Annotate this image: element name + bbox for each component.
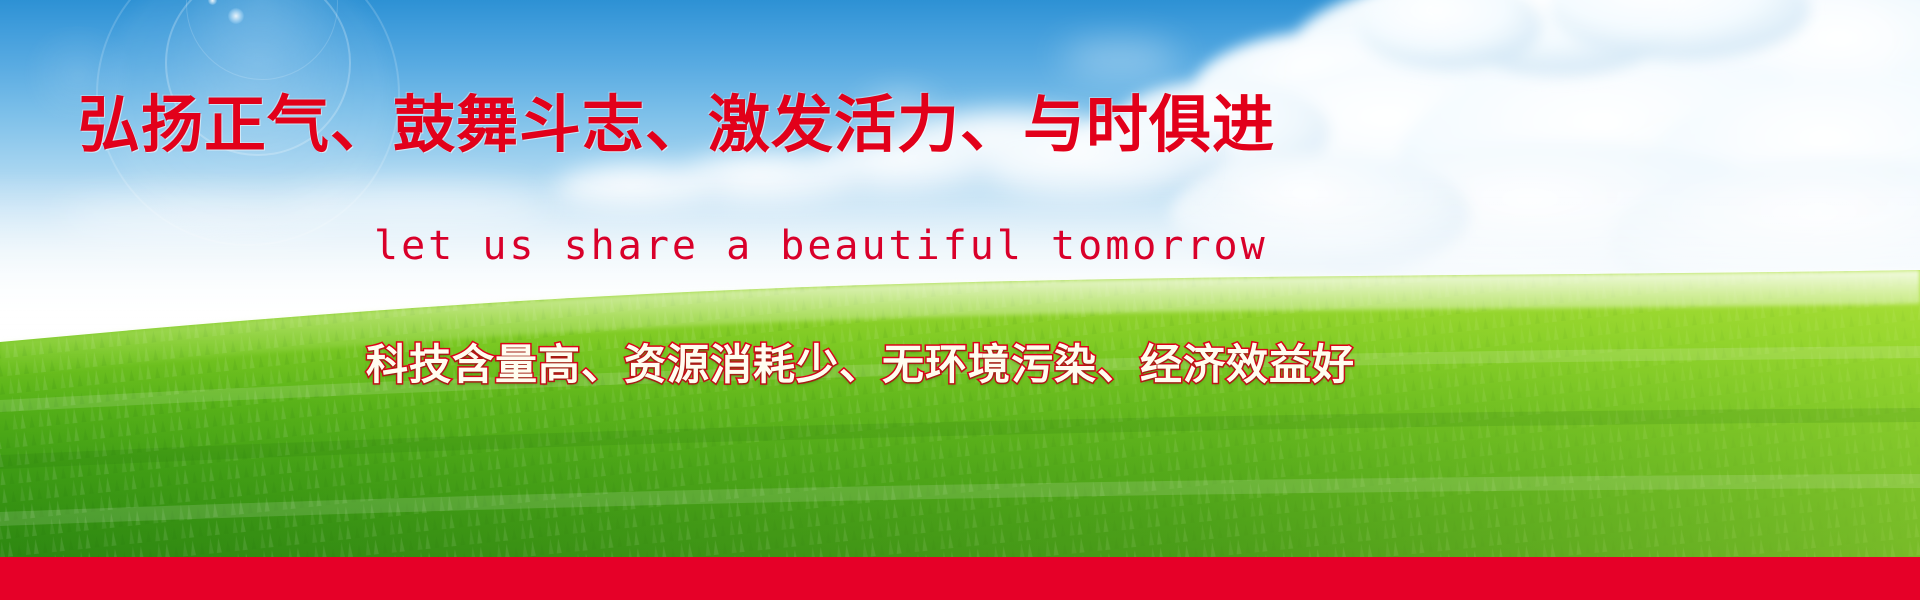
tagline-english: let us share a beautiful tomorrow: [374, 220, 1268, 272]
subline-chinese: 科技含量高、资源消耗少、无环境污染、经济效益好: [366, 338, 1355, 392]
grass-field: [0, 250, 1920, 560]
red-footer-bar: [0, 557, 1920, 600]
promotional-banner: 弘扬正气、鼓舞斗志、激发活力、与时俱进 let us share a beaut…: [0, 0, 1920, 600]
headline-chinese: 弘扬正气、鼓舞斗志、激发活力、与时俱进: [78, 88, 1275, 162]
